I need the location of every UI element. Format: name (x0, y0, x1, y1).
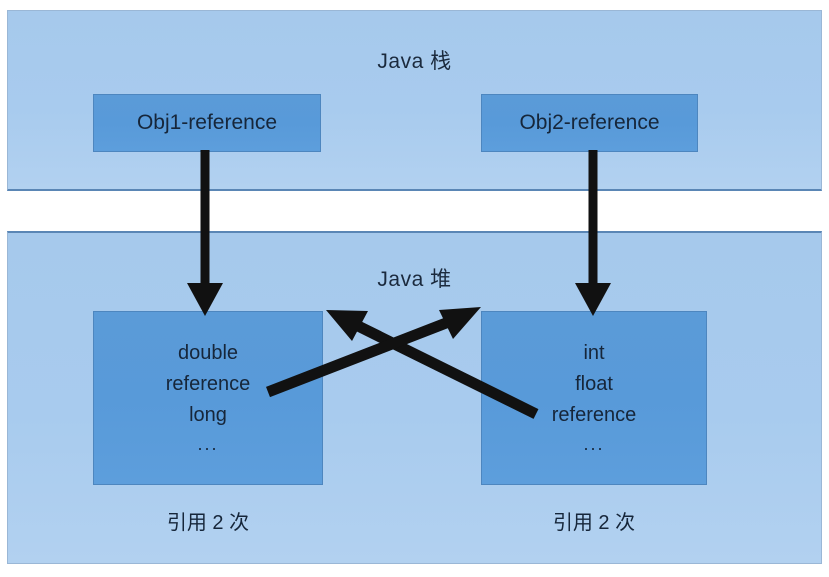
heap-left-field-3: long (189, 400, 227, 431)
heap-left-reference-count: 引用 2 次 (93, 506, 323, 535)
heap-right-field-3: reference (552, 400, 637, 431)
obj2-reference-box: Obj2-reference (481, 94, 698, 152)
heap-right-ellipsis: ... (583, 431, 604, 459)
heap-left-field-2: reference (166, 369, 251, 400)
heap-right-field-2: float (575, 369, 613, 400)
heap-object-box-right: int float reference ... (481, 311, 707, 485)
diagram-canvas: Java 栈 Java 堆 Obj1-reference Obj2-refere… (0, 0, 829, 577)
obj1-reference-box: Obj1-reference (93, 94, 321, 152)
heap-left-ellipsis: ... (197, 431, 218, 459)
heap-object-box-left: double reference long ... (93, 311, 323, 485)
heap-left-field-1: double (178, 338, 238, 369)
obj2-reference-label: Obj2-reference (519, 111, 659, 135)
obj1-reference-label: Obj1-reference (137, 111, 277, 135)
java-stack-title: Java 栈 (8, 45, 821, 75)
java-heap-title: Java 堆 (8, 263, 821, 293)
heap-right-reference-count: 引用 2 次 (481, 506, 707, 535)
heap-right-field-1: int (583, 338, 604, 369)
